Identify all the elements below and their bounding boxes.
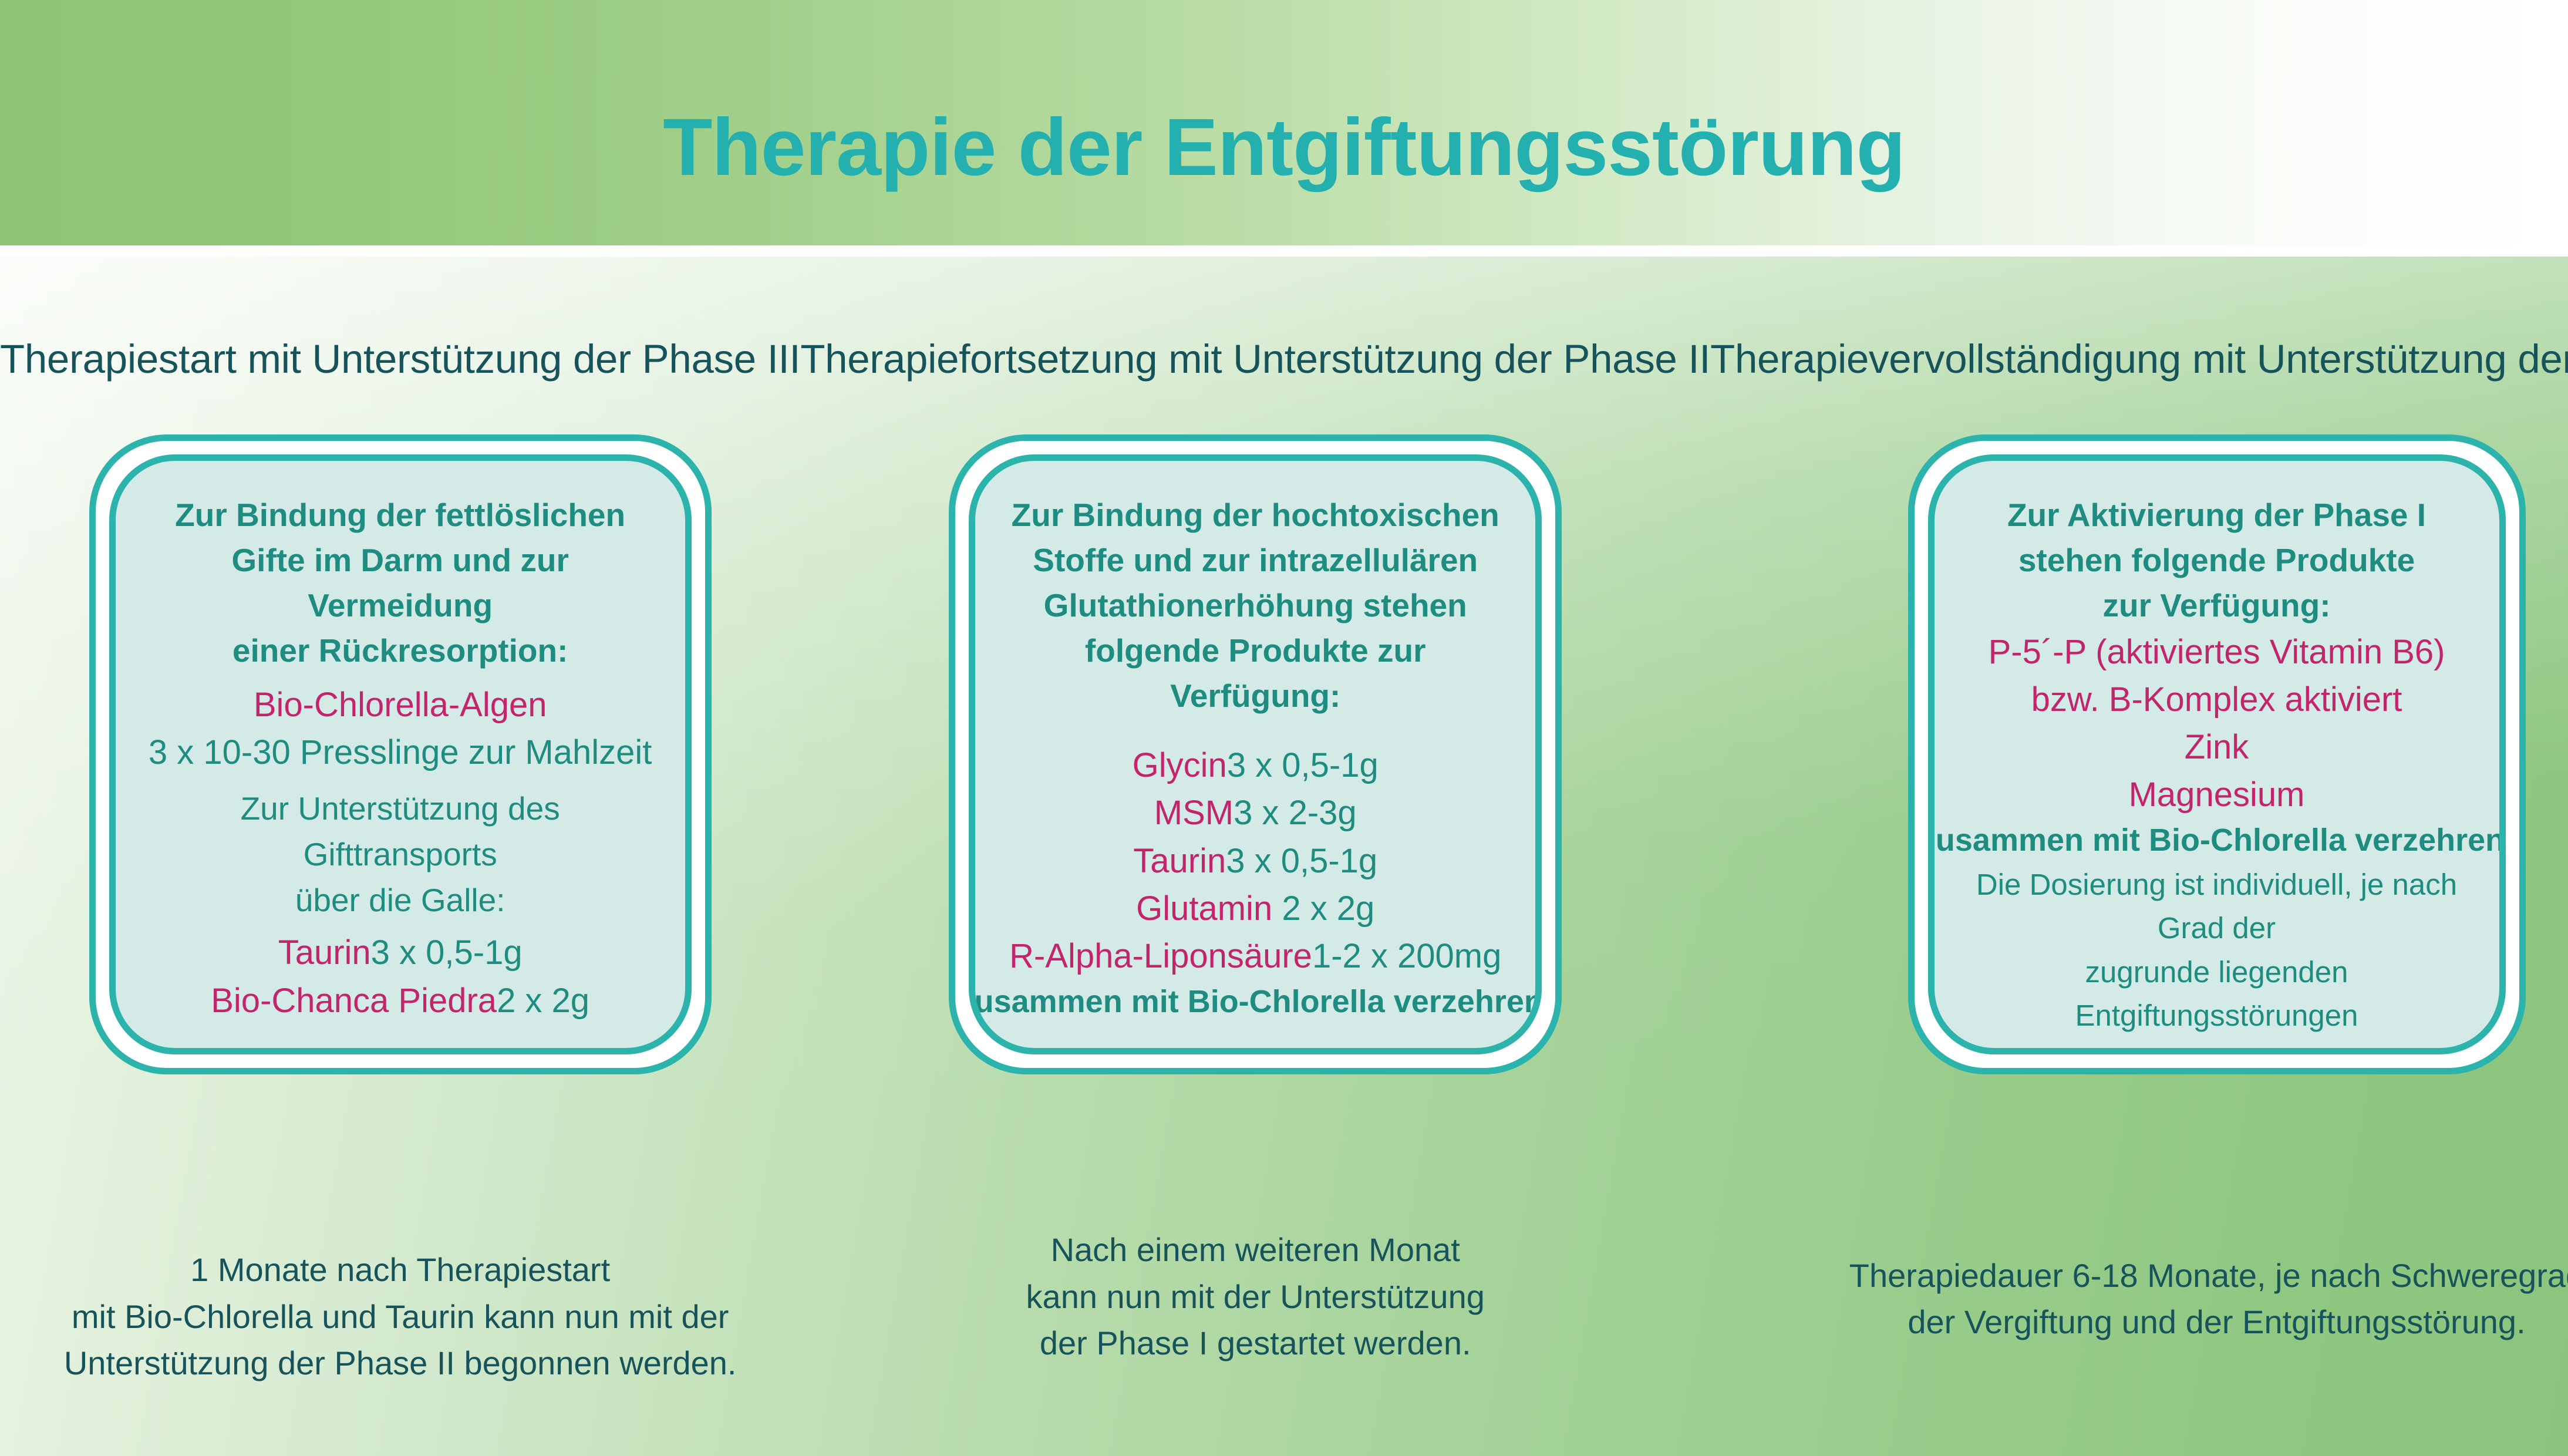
- column-2-note-bold: zusammen mit Bio-Chlorella verzehren.: [969, 980, 1542, 1024]
- product-line: Magnesium: [2129, 771, 2305, 818]
- header-band: Therapie der Entgiftungsstörung: [0, 0, 2568, 245]
- product-line: Zink: [2185, 723, 2249, 771]
- column-1-subhead: Zur Unterstützung des Gifttransports übe…: [143, 786, 658, 923]
- product-line: Glycin3 x 0,5-1g: [1133, 742, 1379, 789]
- product-name: Taurin: [278, 933, 371, 972]
- product-dose: 3 x 0,5-1g: [1227, 746, 1379, 784]
- column-3-footer: Therapiedauer 6-18 Monate, je nach Schwe…: [1849, 1252, 2568, 1346]
- product-name: Taurin: [1133, 842, 1226, 880]
- product-dose: 3 x 2-3g: [1234, 794, 1357, 832]
- column-therapievervollstaendigung: Therapievervollständigung mit Unterstütz…: [1710, 257, 2568, 1456]
- column-2-box: Zur Bindung der hochtoxischen Stoffe und…: [949, 434, 1562, 1074]
- product-name: Bio-Chlorella-Algen: [254, 686, 547, 724]
- column-3-box: Zur Aktivierung der Phase I stehen folge…: [1908, 434, 2526, 1074]
- product-dose: 2 x 2g: [497, 982, 589, 1020]
- product-line: P-5´-P (aktiviertes Vitamin B6): [1989, 628, 2445, 676]
- product-line: MSM3 x 2-3g: [1154, 789, 1357, 837]
- column-1-intro: Zur Bindung der fettlöslichen Gifte im D…: [143, 493, 658, 673]
- product-line: R-Alpha-Liponsäure1-2 x 200mg: [1009, 932, 1501, 980]
- product-dose: 1-2 x 200mg: [1312, 937, 1501, 975]
- column-1-footer: 1 Monate nach Therapiestart mit Bio-Chlo…: [64, 1246, 737, 1387]
- product-name: MSM: [1154, 794, 1234, 832]
- product-line: Bio-Chanca Piedra2 x 2g: [211, 977, 589, 1024]
- column-3-intro: Zur Aktivierung der Phase I stehen folge…: [2007, 493, 2426, 628]
- product-dose: 3 x 10-30 Presslinge zur Mahlzeit: [149, 733, 652, 771]
- column-2-box-inner: Zur Bindung der hochtoxischen Stoffe und…: [969, 454, 1542, 1054]
- product-line: Taurin3 x 0,5-1g: [278, 929, 523, 976]
- page-title: Therapie der Entgiftungsstörung: [0, 107, 2568, 188]
- product-name: Magnesium: [2129, 776, 2305, 814]
- product-line: Glutamin 2 x 2g: [1136, 885, 1374, 932]
- product-line: Taurin3 x 0,5-1g: [1133, 837, 1377, 885]
- column-2-header: Therapiefortsetzung mit Unterstützung de…: [800, 333, 1710, 386]
- columns-container: Therapiestart mit Unterstützung der Phas…: [0, 257, 2568, 1456]
- product-name: Glycin: [1133, 746, 1227, 784]
- column-2-footer: Nach einem weiteren Monat kann nun mit d…: [1026, 1226, 1485, 1367]
- product-line: Bio-Chlorella-Algen: [254, 681, 547, 729]
- product-name: bzw. B-Komplex aktiviert: [2031, 680, 2402, 719]
- column-3-note-small: Die Dosierung ist individuell, je nach G…: [1962, 863, 2472, 1054]
- column-3-note-bold: zusammen mit Bio-Chlorella verzehren.: [1928, 818, 2506, 863]
- column-3-header: Therapievervollständigung mit Unterstütz…: [1710, 333, 2568, 386]
- product-line: bzw. B-Komplex aktiviert: [2031, 676, 2402, 723]
- product-name: Glutamin: [1136, 889, 1272, 928]
- product-name: Zink: [2185, 728, 2249, 766]
- product-line: 3 x 10-30 Presslinge zur Mahlzeit: [149, 729, 652, 776]
- column-1-box: Zur Bindung der fettlöslichen Gifte im D…: [89, 434, 712, 1074]
- column-therapiestart: Therapiestart mit Unterstützung der Phas…: [0, 257, 800, 1456]
- infographic-page: Therapie der Entgiftungsstörung Therapie…: [0, 0, 2568, 1456]
- product-name: Bio-Chanca Piedra: [211, 982, 497, 1020]
- column-3-box-inner: Zur Aktivierung der Phase I stehen folge…: [1928, 454, 2506, 1054]
- column-2-intro: Zur Bindung der hochtoxischen Stoffe und…: [1002, 493, 1508, 719]
- product-name: R-Alpha-Liponsäure: [1009, 937, 1312, 975]
- column-therapiefortsetzung: Therapiefortsetzung mit Unterstützung de…: [800, 257, 1710, 1456]
- product-dose: 2 x 2g: [1272, 889, 1374, 928]
- product-dose: 3 x 0,5-1g: [371, 933, 523, 972]
- product-name: P-5´-P (aktiviertes Vitamin B6): [1989, 633, 2445, 671]
- column-1-box-inner: Zur Bindung der fettlöslichen Gifte im D…: [109, 454, 692, 1054]
- product-dose: 3 x 0,5-1g: [1226, 842, 1377, 880]
- column-1-header: Therapiestart mit Unterstützung der Phas…: [0, 333, 800, 386]
